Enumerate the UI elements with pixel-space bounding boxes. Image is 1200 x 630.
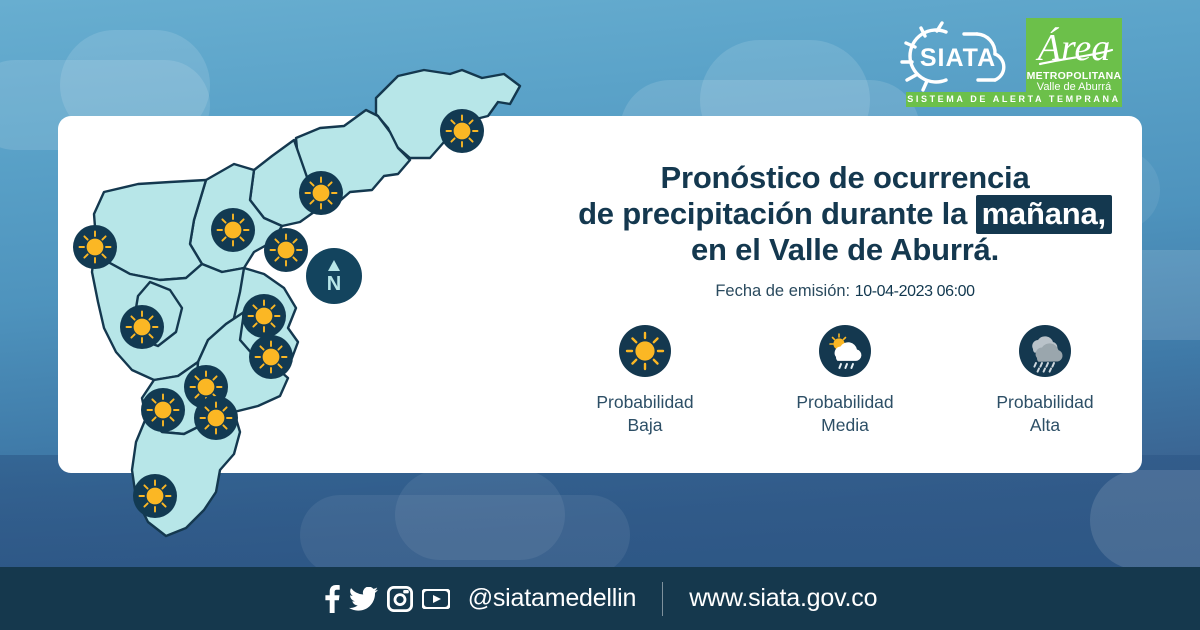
website-url[interactable]: www.siata.gov.co	[689, 584, 877, 613]
legend-label-medium-line2: Media	[796, 414, 893, 437]
title-line-3: en el Valle de Aburrá.	[545, 232, 1145, 268]
tagline-banner: SISTEMA DE ALERTA TEMPRANA	[906, 92, 1122, 107]
area-script-icon: Área	[1026, 20, 1122, 72]
station-pin[interactable]	[249, 335, 293, 379]
station-pin[interactable]	[299, 171, 343, 215]
legend-label-low: Probabilidad Baja	[596, 391, 693, 437]
legend-icon-low	[619, 325, 671, 377]
legend-label-medium-line1: Probabilidad	[796, 391, 893, 414]
page-title: Pronóstico de ocurrencia de precipitació…	[545, 160, 1145, 268]
probability-legend: Probabilidad Baja	[545, 325, 1145, 437]
station-pin[interactable]	[264, 228, 308, 272]
background-cloud	[1090, 470, 1200, 570]
north-arrow-icon: N	[306, 248, 362, 304]
legend-icon-high	[1019, 325, 1071, 377]
svg-text:N: N	[327, 273, 341, 295]
station-pin[interactable]	[120, 305, 164, 349]
title-line-2: de precipitación durante la mañana,	[545, 196, 1145, 232]
sun-icon	[194, 396, 238, 440]
legend-label-high-line1: Probabilidad	[996, 391, 1093, 414]
legend-label-low-line2: Baja	[596, 414, 693, 437]
sun-icon	[299, 171, 343, 215]
siata-logo: SIATA	[894, 18, 1022, 92]
station-pin[interactable]	[440, 109, 484, 153]
sun-icon	[264, 228, 308, 272]
sun-icon	[133, 474, 177, 518]
station-pin[interactable]	[133, 474, 177, 518]
sun-icon	[242, 294, 286, 338]
legend-label-high-line2: Alta	[996, 414, 1093, 437]
legend-item-baja: Probabilidad Baja	[545, 325, 745, 437]
footer-divider	[662, 582, 663, 616]
sun-icon	[141, 388, 185, 432]
rain-cloud-icon	[1019, 325, 1071, 377]
legend-item-alta: Probabilidad Alta	[945, 325, 1145, 437]
sun-icon	[619, 325, 671, 377]
social-handle[interactable]: @siatamedellin	[468, 584, 637, 613]
youtube-icon[interactable]	[422, 589, 450, 609]
instagram-icon[interactable]	[387, 586, 413, 612]
station-pin[interactable]	[242, 294, 286, 338]
forecast-text-panel: Pronóstico de ocurrencia de precipitació…	[545, 160, 1145, 301]
station-pin[interactable]	[141, 388, 185, 432]
valle-de-aburra-map: N	[58, 40, 538, 570]
sun-cloud-icon: SIATA	[894, 18, 1022, 92]
emission-label: Fecha de emisión:	[715, 282, 850, 300]
sun-icon	[120, 305, 164, 349]
footer-bar: @siatamedellin www.siata.gov.co	[0, 567, 1200, 630]
emission-date: Fecha de emisión: 10-04-2023 06:00	[545, 282, 1145, 301]
facebook-icon[interactable]	[323, 585, 340, 613]
sun-icon	[73, 225, 117, 269]
legend-icon-medium	[819, 325, 871, 377]
legend-label-medium: Probabilidad Media	[796, 391, 893, 437]
title-line-1: Pronóstico de ocurrencia	[545, 160, 1145, 196]
sun-icon	[249, 335, 293, 379]
sun-icon	[440, 109, 484, 153]
station-pin[interactable]	[211, 208, 255, 252]
station-pin[interactable]	[194, 396, 238, 440]
compass-rose: N	[306, 248, 362, 304]
station-pin[interactable]	[73, 225, 117, 269]
sun-icon	[211, 208, 255, 252]
title-line-2-prefix: de precipitación durante la	[578, 196, 976, 231]
legend-item-media: Probabilidad Media	[745, 325, 945, 437]
twitter-icon[interactable]	[349, 587, 378, 611]
emission-value: 10-04-2023 06:00	[855, 283, 975, 300]
legend-label-low-line1: Probabilidad	[596, 391, 693, 414]
legend-label-high: Probabilidad Alta	[996, 391, 1093, 437]
title-highlight: mañana,	[976, 195, 1112, 234]
social-icons	[323, 585, 450, 613]
area-metropolitana-logo: Área METROPOLITANA Valle de Aburrá	[1026, 18, 1122, 96]
infographic-root: SIATA Área METROPOLITANA Valle de Aburrá…	[0, 0, 1200, 630]
sun-rain-cloud-icon	[819, 325, 871, 377]
svg-text:SIATA: SIATA	[920, 44, 996, 72]
